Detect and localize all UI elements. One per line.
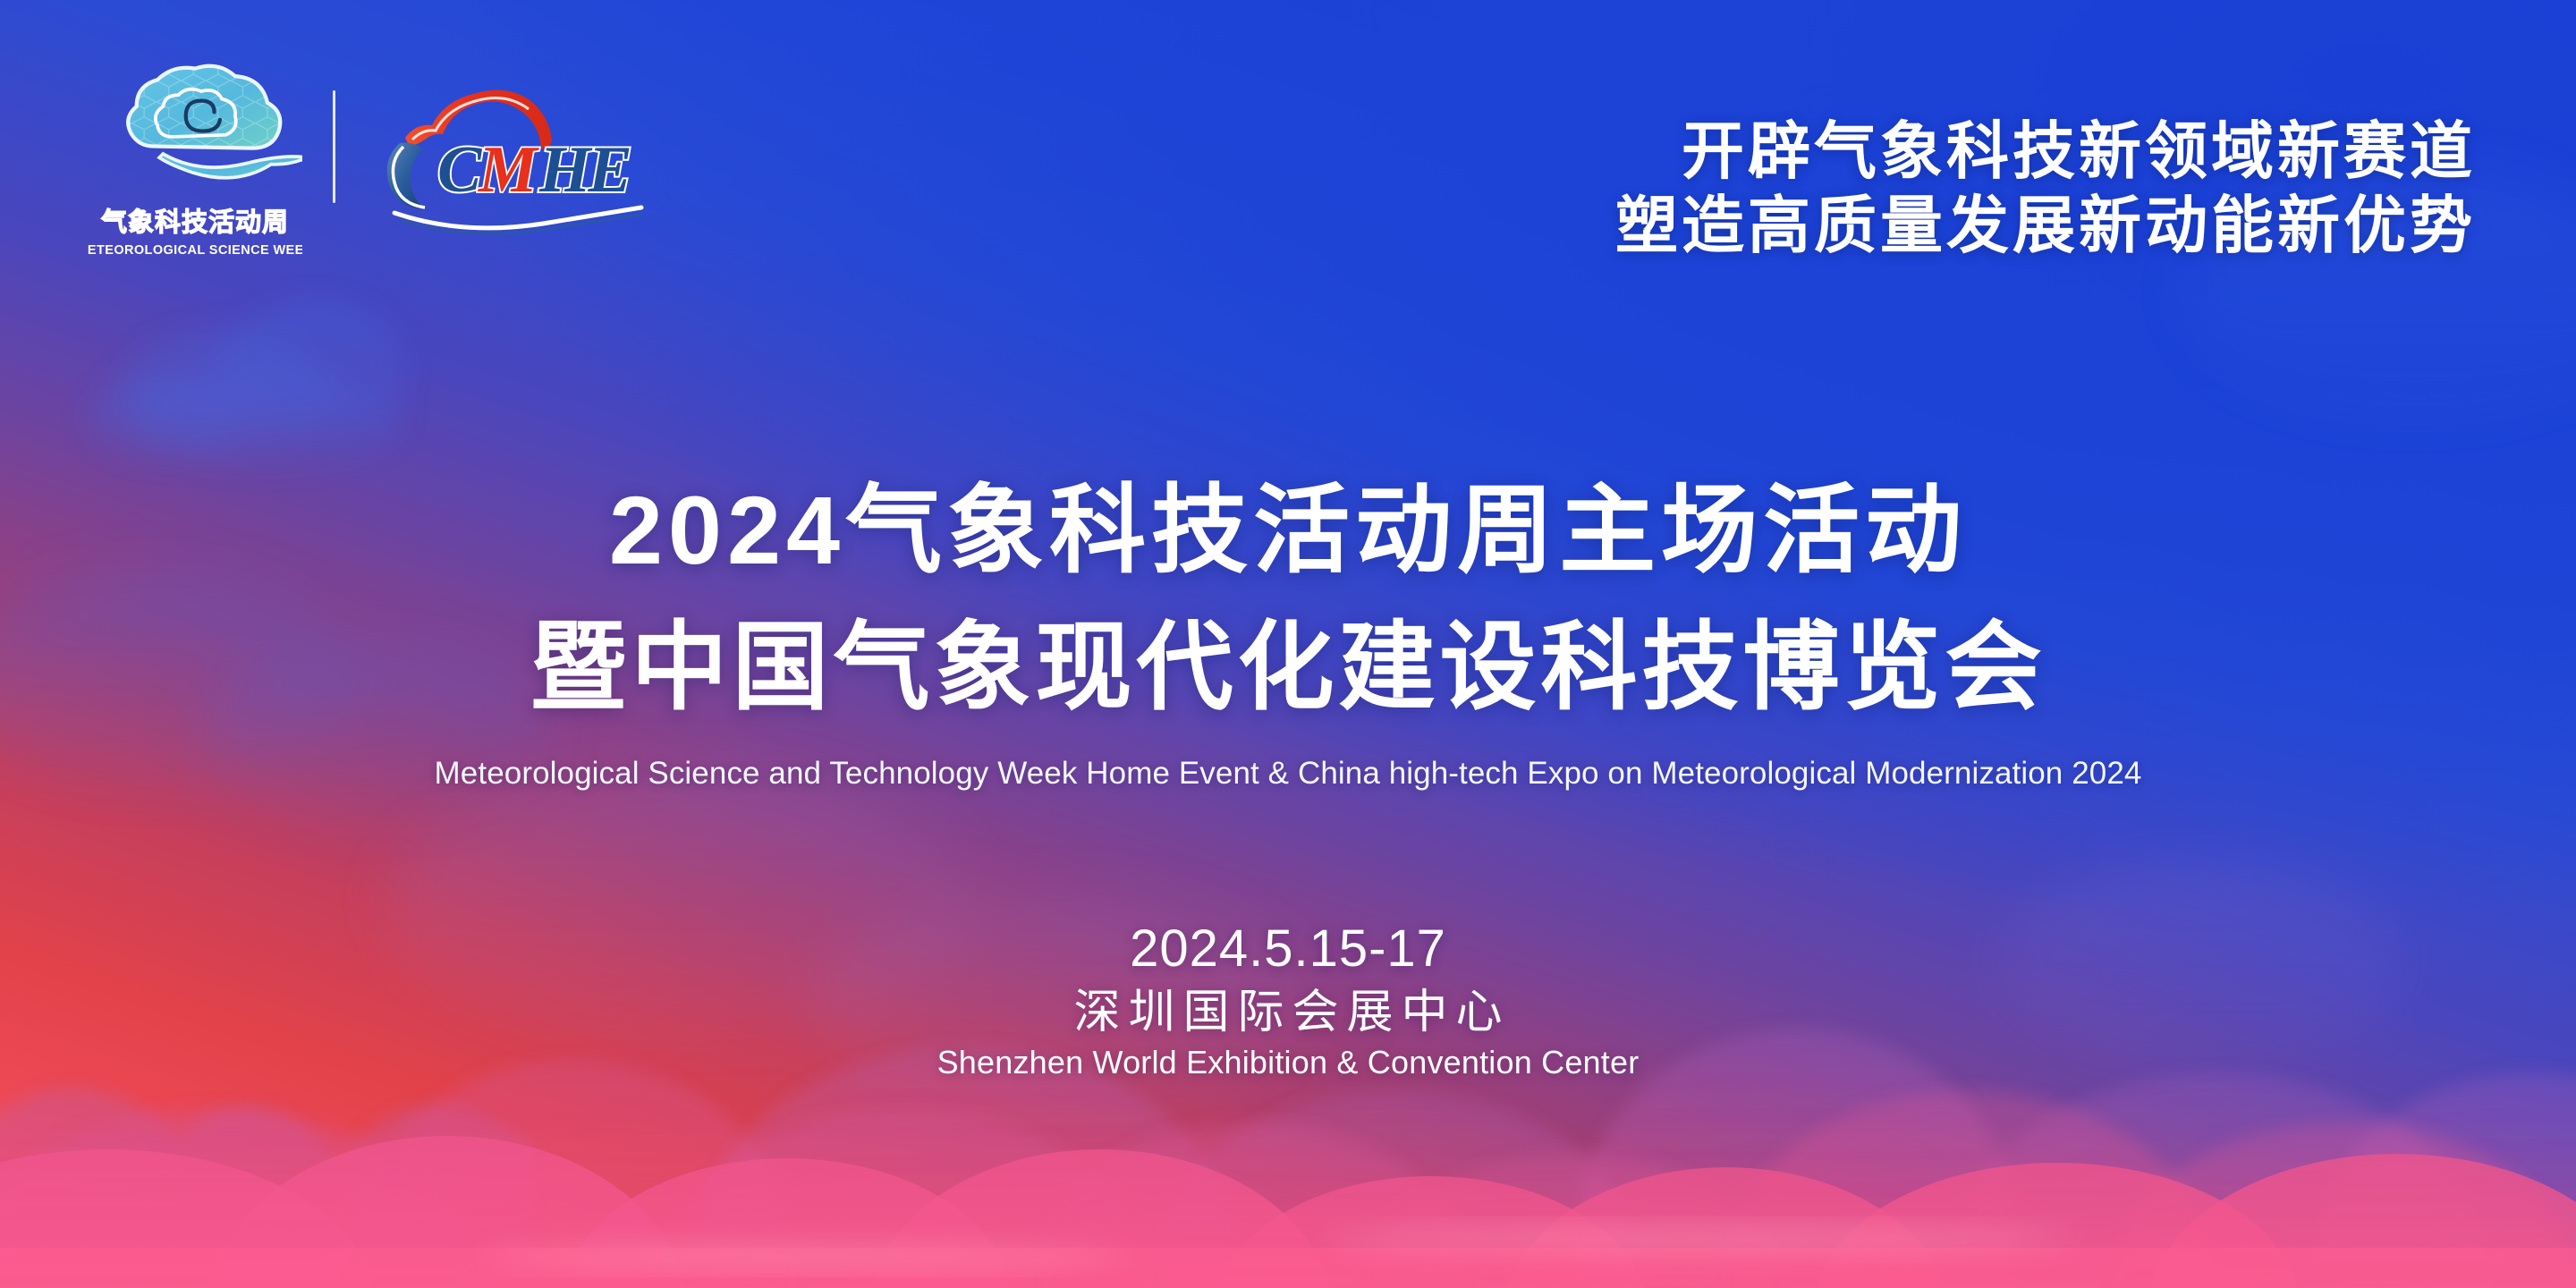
logo-en-name: METEOROLOGICAL SCIENCE WEEK <box>88 243 302 258</box>
event-banner: 气象科技活动周 METEOROLOGICAL SCIENCE WEEK <box>0 0 2576 1288</box>
ccmhe-logo: C M HE <box>373 73 668 239</box>
cloud-wisp <box>483 1226 2075 1267</box>
slogan-line-1: 开辟气象科技新领域新赛道 <box>1615 114 2476 189</box>
slogan-line-2: 塑造高质量发展新动能新优势 <box>1615 189 2476 263</box>
svg-text:M: M <box>478 133 539 207</box>
svg-text:HE: HE <box>538 133 630 207</box>
event-meta-block: 2024.5.15-17 深圳国际会展中心 Shenzhen World Exh… <box>0 921 2576 1081</box>
cloud-row-front <box>0 1136 2576 1288</box>
cloud-shape <box>95 59 302 178</box>
logo-row: 气象科技活动周 METEOROLOGICAL SCIENCE WEEK <box>88 50 668 274</box>
meteorological-science-week-logo: 气象科技活动周 METEOROLOGICAL SCIENCE WEEK <box>88 50 302 274</box>
title-line-1: 2024气象科技活动周主场活动 <box>0 462 2576 598</box>
ccmhe-wordmark: C M HE <box>437 133 630 207</box>
logo-divider <box>333 90 335 203</box>
cloud-row-mid <box>0 1060 2576 1288</box>
title-line-2: 暨中国气象现代化建设科技博览会 <box>0 598 2576 735</box>
event-date: 2024.5.15-17 <box>0 921 2576 978</box>
sky-cloud-blue-upper <box>85 301 407 472</box>
event-venue-en: Shenzhen World Exhibition & Convention C… <box>0 1044 2576 1081</box>
svg-text:C: C <box>437 133 483 207</box>
title-block: 2024气象科技活动周主场活动 暨中国气象现代化建设科技博览会 Meteorol… <box>0 462 2576 792</box>
logo-cn-name: 气象科技活动周 <box>100 208 289 237</box>
title-english-subtitle: Meteorological Science and Technology We… <box>0 756 2576 792</box>
slogan: 开辟气象科技新领域新赛道 塑造高质量发展新动能新优势 <box>1615 114 2476 262</box>
event-venue-cn: 深圳国际会展中心 <box>0 987 2576 1038</box>
